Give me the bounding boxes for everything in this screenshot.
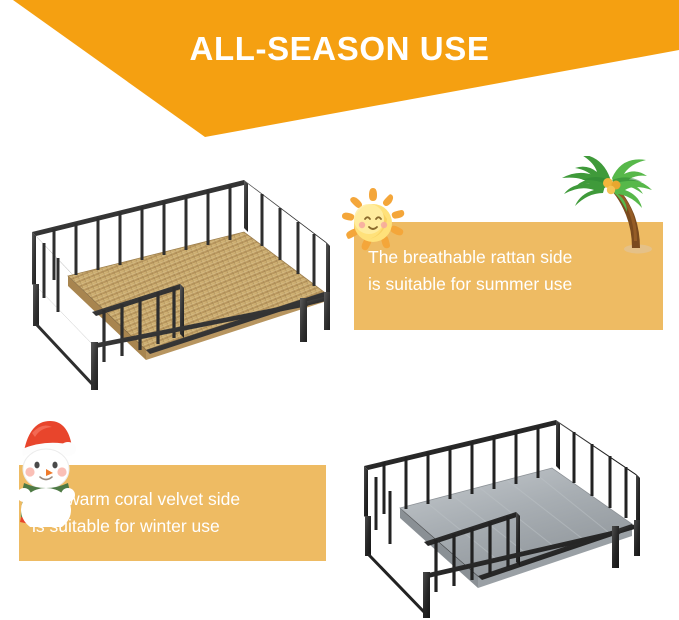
product-image-summer-bed	[12, 180, 342, 400]
palm-tree-icon	[552, 156, 664, 256]
banner-background-shape	[0, 0, 679, 145]
callout-summer-line-2: is suitable for summer use	[368, 271, 663, 298]
infographic-page: ALL-SEASON USE	[0, 0, 679, 620]
snowman-icon	[2, 417, 88, 527]
product-image-winter-bed	[340, 420, 679, 620]
sun-icon	[336, 186, 410, 260]
header-banner: ALL-SEASON USE	[0, 0, 679, 145]
page-title: ALL-SEASON USE	[0, 30, 679, 68]
